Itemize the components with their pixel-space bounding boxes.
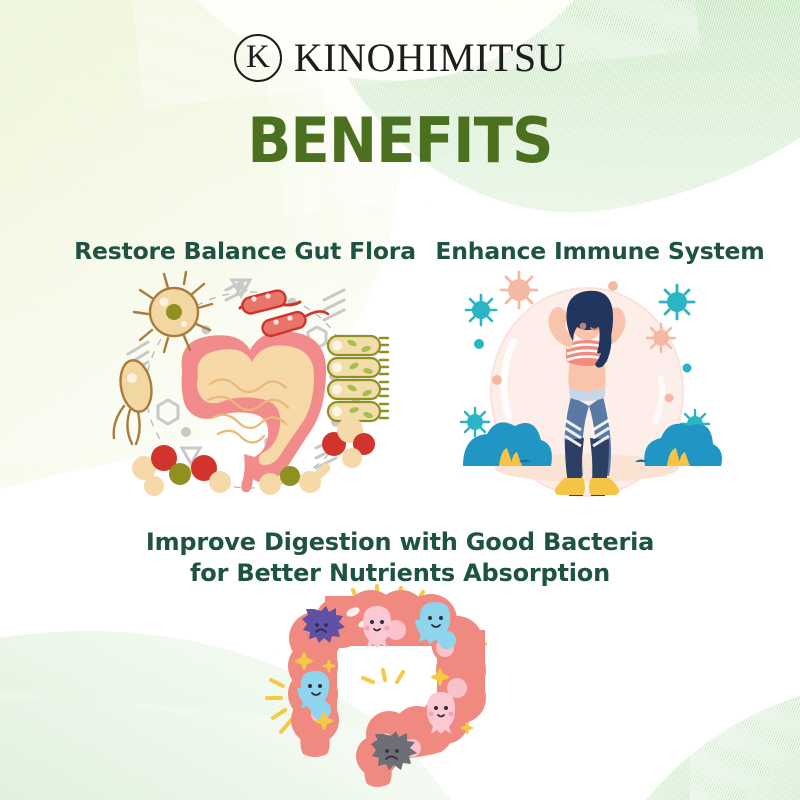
brand-monogram-icon: K: [234, 34, 282, 82]
benefit-heading-digestion-line-2: for Better Nutrients Absorption: [100, 558, 700, 589]
colon-bacteria-illustration: [265, 590, 535, 785]
page-title: BENEFITS: [28, 110, 772, 172]
wave-bottom-right: [549, 675, 800, 800]
brand-name: KINOHIMITSU: [294, 38, 566, 78]
gut-flora-illustration: [120, 272, 380, 502]
benefit-heading-digestion-line-1: Improve Digestion with Good Bacteria: [100, 527, 700, 558]
molecule-chains: [132, 417, 375, 496]
benefit-heading-gut-flora: Restore Balance Gut Flora: [40, 236, 450, 266]
bacteria-red-rods: [240, 289, 328, 338]
wave-bottom-right-2: [690, 700, 800, 800]
infographic-page: K KINOHIMITSU BENEFITS Restore Balance G…: [0, 0, 800, 800]
benefit-heading-digestion: Improve Digestion with Good Bacteria for…: [100, 527, 700, 588]
bacteria-bacillus: [114, 358, 156, 444]
benefit-heading-immune-system: Enhance Immune System: [400, 236, 800, 266]
immune-woman-illustration: [455, 272, 720, 504]
brand-logo: K KINOHIMITSU: [0, 34, 800, 82]
